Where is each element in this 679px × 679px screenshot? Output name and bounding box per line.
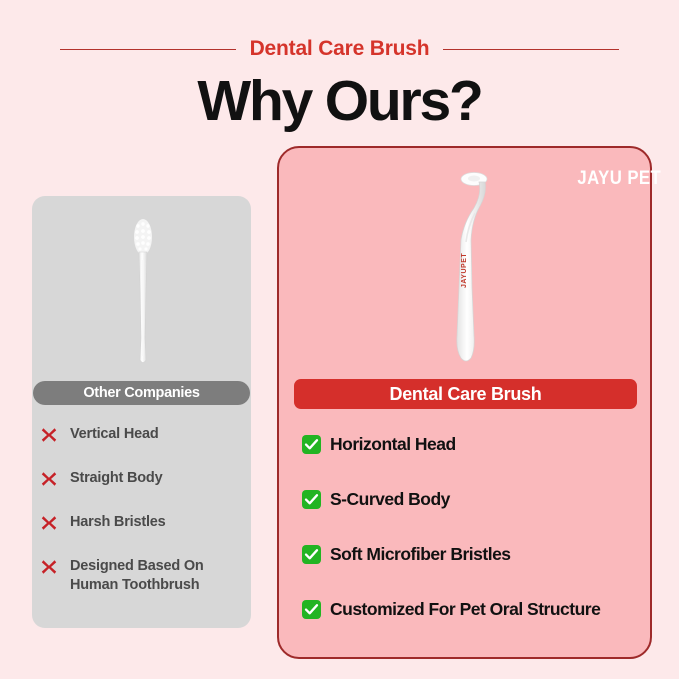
check-mark-icon xyxy=(302,435,321,454)
list-item: Straight Body xyxy=(40,469,250,488)
list-item-label: Vertical Head xyxy=(70,425,158,444)
dental-care-brush-feature-list: Horizontal Head S-Curved Body Soft Micro… xyxy=(302,434,642,654)
brand-logo: JAYU PET xyxy=(577,168,661,190)
x-mark-icon xyxy=(40,470,58,488)
other-companies-badge: Other Companies xyxy=(33,381,250,405)
x-mark-icon xyxy=(40,514,58,532)
divider-line-right xyxy=(443,49,619,50)
list-item-label: Designed Based On Human Toothbrush xyxy=(70,557,204,594)
list-item: Harsh Bristles xyxy=(40,513,250,532)
pet-dental-brush-illustration: JAYUPET xyxy=(430,168,520,368)
list-item-label: Straight Body xyxy=(70,469,162,488)
list-item-label: Soft Microfiber Bristles xyxy=(330,544,511,565)
dental-care-brush-badge: Dental Care Brush xyxy=(294,379,637,409)
list-item: Soft Microfiber Bristles xyxy=(302,544,642,565)
list-item: Customized For Pet Oral Structure xyxy=(302,599,642,620)
list-item-label: Horizontal Head xyxy=(330,434,456,455)
x-mark-icon xyxy=(40,426,58,444)
list-item-label: S-Curved Body xyxy=(330,489,450,510)
page-title: Why Ours? xyxy=(0,73,679,130)
check-mark-icon xyxy=(302,490,321,509)
x-mark-icon xyxy=(40,558,58,576)
check-mark-icon xyxy=(302,600,321,619)
list-item: Vertical Head xyxy=(40,425,250,444)
eyebrow-title: Dental Care Brush xyxy=(250,37,430,61)
list-item: S-Curved Body xyxy=(302,489,642,510)
list-item: Horizontal Head xyxy=(302,434,642,455)
eyebrow-row: Dental Care Brush xyxy=(0,36,679,62)
svg-text:JAYUPET: JAYUPET xyxy=(461,253,468,288)
list-item: Designed Based On Human Toothbrush xyxy=(40,557,250,594)
list-item-label: Customized For Pet Oral Structure xyxy=(330,599,600,620)
divider-line-left xyxy=(60,49,236,50)
human-toothbrush-illustration xyxy=(108,218,178,368)
check-mark-icon xyxy=(302,545,321,564)
list-item-label: Harsh Bristles xyxy=(70,513,166,532)
other-companies-feature-list: Vertical Head Straight Body Harsh Bristl… xyxy=(40,425,250,619)
